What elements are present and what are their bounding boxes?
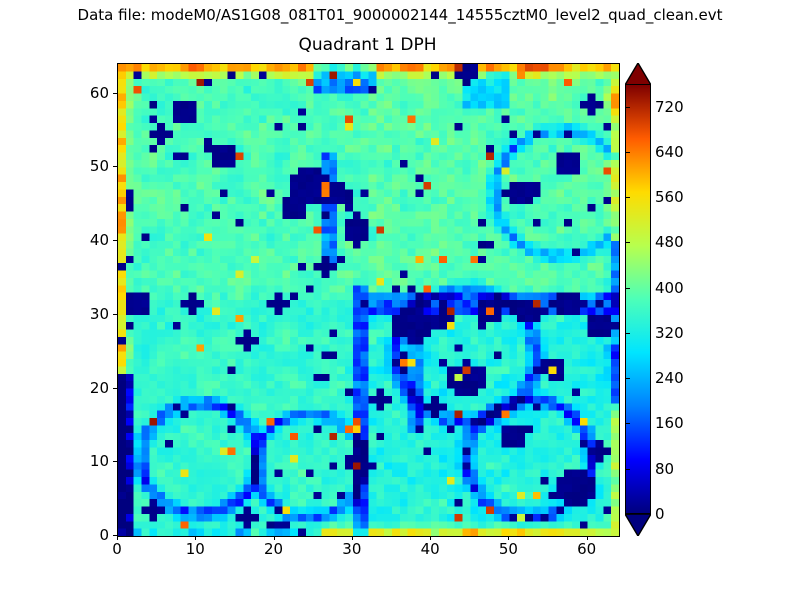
y-tick-label: 20: [63, 379, 109, 397]
colorbar-extend-max-arrow-icon: [625, 63, 651, 85]
colorbar-tick-label: 720: [655, 98, 684, 116]
x-tick-label: 0: [112, 540, 122, 558]
y-tick-mark: [113, 461, 117, 462]
y-tick-mark: [113, 93, 117, 94]
colorbar-tick-mark: [625, 197, 630, 198]
y-tick-label: 10: [63, 452, 109, 470]
colorbar-tick-mark: [625, 107, 630, 108]
x-tick-label: 20: [264, 540, 283, 558]
heatmap-axes[interactable]: [117, 63, 620, 537]
colorbar-tick-label: 400: [655, 279, 684, 297]
colorbar-tick-label: 160: [655, 414, 684, 432]
page-title: Quadrant 1 DPH: [117, 35, 618, 55]
colorbar[interactable]: [625, 63, 651, 535]
y-tick-label: 30: [63, 305, 109, 323]
colorbar-tick-label: 480: [655, 233, 684, 251]
colorbar-tick-mark: [625, 514, 630, 515]
y-tick-label: 40: [63, 231, 109, 249]
colorbar-tick-label: 240: [655, 369, 684, 387]
x-tick-label: 10: [186, 540, 205, 558]
x-tick-label: 40: [421, 540, 440, 558]
y-tick-mark: [113, 166, 117, 167]
colorbar-tick-mark: [625, 333, 630, 334]
colorbar-tick-mark: [625, 242, 630, 243]
y-tick-mark: [113, 535, 117, 536]
y-tick-label: 50: [63, 157, 109, 175]
colorbar-tick-mark: [625, 152, 630, 153]
colorbar-tick-label: 560: [655, 188, 684, 206]
x-tick-label: 30: [342, 540, 361, 558]
x-tick-label: 60: [577, 540, 596, 558]
colorbar-tick-mark: [625, 469, 630, 470]
y-tick-mark: [113, 388, 117, 389]
colorbar-tick-label: 320: [655, 324, 684, 342]
colorbar-tick-label: 80: [655, 460, 674, 478]
data-file-suptitle: Data file: modeM0/AS1G08_081T01_90000021…: [0, 6, 800, 24]
y-tick-mark: [113, 240, 117, 241]
y-tick-label: 60: [63, 84, 109, 102]
dph-heatmap-image[interactable]: [118, 64, 619, 536]
colorbar-tick-mark: [625, 378, 630, 379]
colorbar-extend-min-arrow-icon: [625, 514, 651, 536]
colorbar-tick-label: 0: [655, 505, 665, 523]
colorbar-tick-mark: [625, 288, 630, 289]
colorbar-tick-label: 640: [655, 143, 684, 161]
y-tick-label: 0: [63, 526, 109, 544]
colorbar-gradient: [625, 84, 651, 514]
colorbar-tick-mark: [625, 423, 630, 424]
x-tick-label: 50: [499, 540, 518, 558]
figure-canvas: Data file: modeM0/AS1G08_081T01_90000021…: [0, 0, 800, 600]
y-tick-mark: [113, 314, 117, 315]
